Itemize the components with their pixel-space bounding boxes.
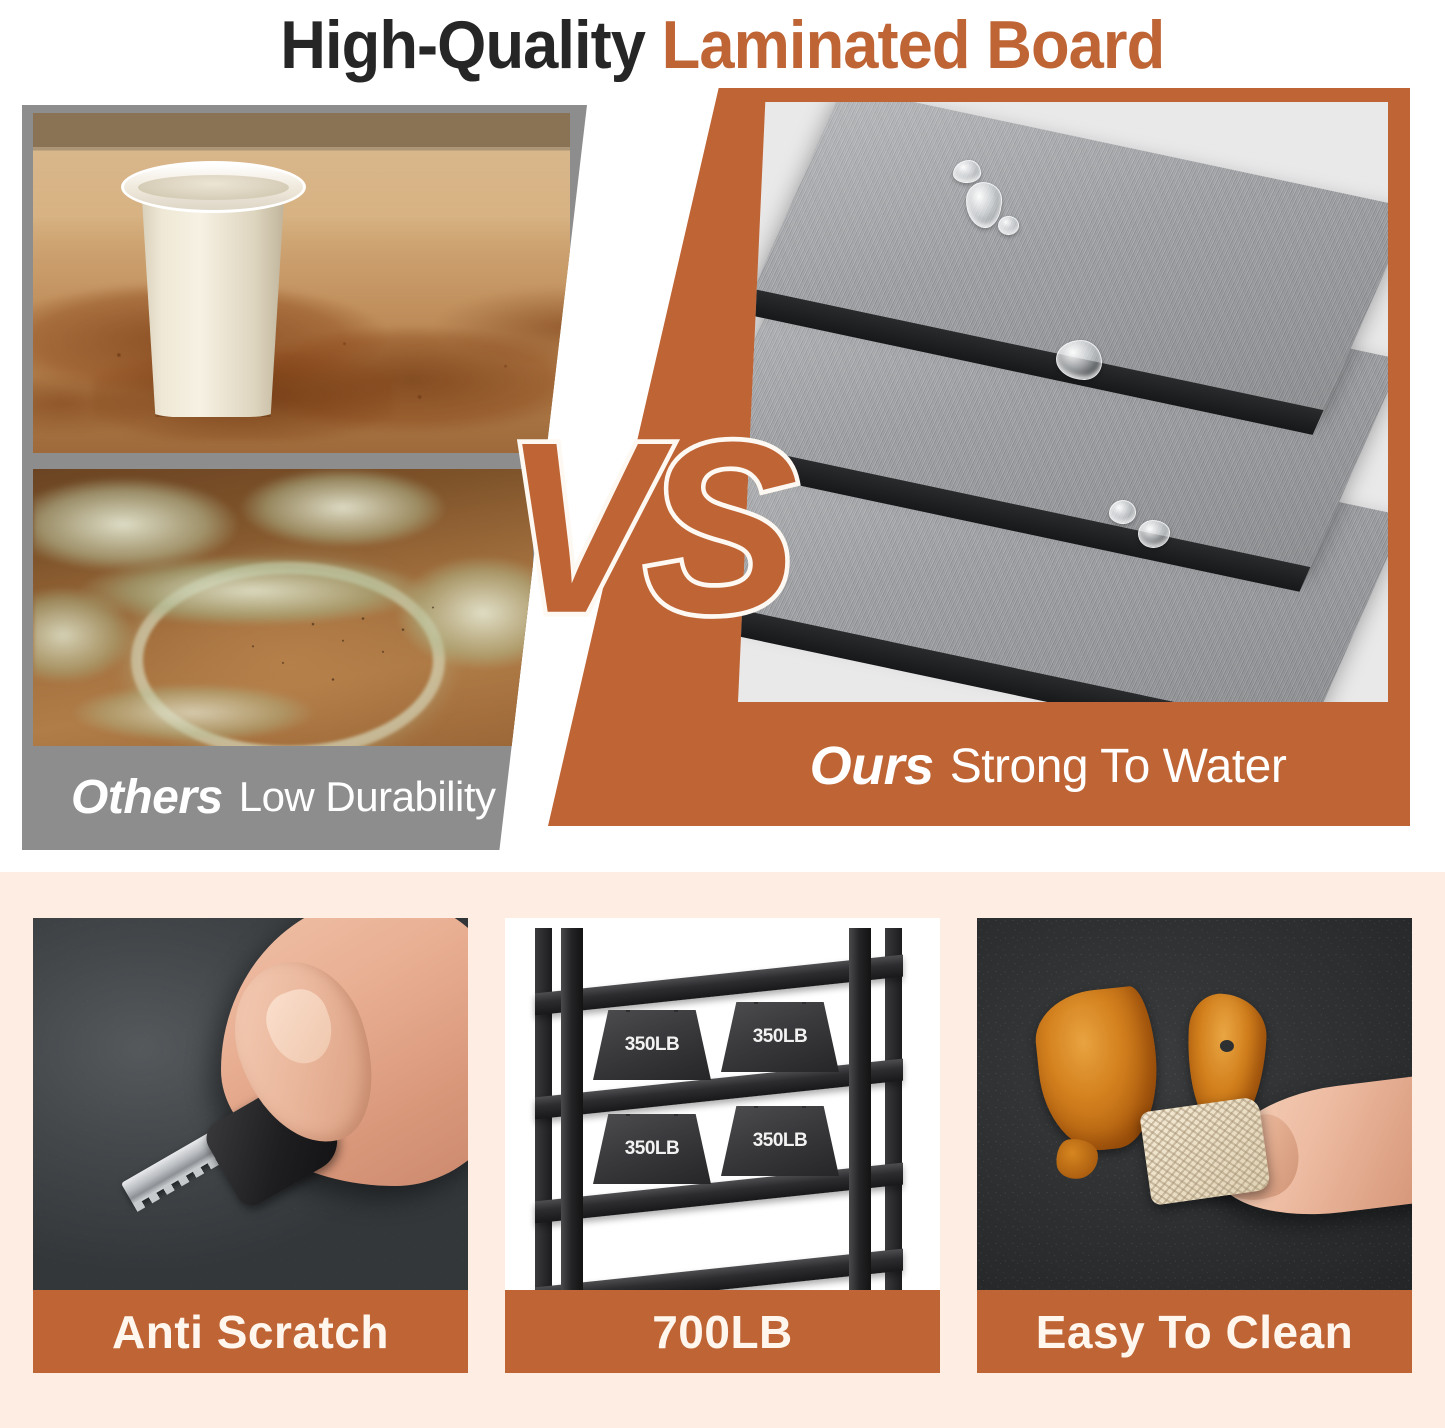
weight-block: 350LB <box>593 1010 711 1080</box>
shelf-deck <box>535 1059 903 1120</box>
others-caption: Others Low Durability <box>33 753 513 841</box>
shelf-deck <box>535 955 903 1016</box>
others-photo-coffee-spill <box>33 113 570 453</box>
weight-block: 350LB <box>721 1106 839 1176</box>
weight-block: 350LB <box>721 1002 839 1072</box>
shelf-post-front-left <box>561 928 583 1290</box>
page-title: High-Quality Laminated Board <box>280 6 1164 84</box>
page-title-part-orange: Laminated Board <box>662 7 1165 83</box>
water-droplet <box>953 160 981 183</box>
others-photo-mold <box>33 469 533 746</box>
ours-photo-waterproof-boards <box>738 102 1388 702</box>
shelving-backdrop: 350LB 350LB 350LB 350LB <box>505 918 940 1290</box>
shelving-photo: 350LB 350LB 350LB 350LB <box>505 918 940 1290</box>
cup-rim <box>121 161 306 213</box>
page-title-part-dark: High-Quality <box>280 7 645 83</box>
page-header: High-Quality Laminated Board <box>0 0 1445 90</box>
shelf-deck <box>535 1163 903 1224</box>
paper-cup <box>121 155 306 427</box>
features-section: Anti Scratch 350LB <box>0 872 1445 1428</box>
spill-hole <box>1220 1040 1235 1053</box>
others-claim-text: Low Durability <box>239 773 496 821</box>
feature-card-easy-to-clean: Easy To Clean <box>977 918 1412 1373</box>
cup-body <box>133 183 293 417</box>
mold-specks <box>33 469 533 746</box>
weight-label: 350LB <box>625 1034 680 1056</box>
cleaning-cloth <box>1139 1096 1271 1206</box>
feature-card-anti-scratch: Anti Scratch <box>33 918 468 1373</box>
feature-label-anti-scratch: Anti Scratch <box>33 1290 468 1373</box>
water-droplet <box>998 216 1019 235</box>
others-brand-word: Others <box>71 770 223 825</box>
weight-block: 350LB <box>593 1114 711 1184</box>
vs-badge: VS <box>503 406 786 650</box>
anti-scratch-photo <box>33 918 468 1290</box>
shelf-post-back-right <box>885 928 902 1290</box>
shelving-unit: 350LB 350LB 350LB 350LB <box>533 928 913 1290</box>
feature-label-load-capacity: 700LB <box>505 1290 940 1373</box>
shelf-deck <box>535 1249 903 1290</box>
shelf-post-front-right <box>849 928 871 1290</box>
ours-brand-word: Ours <box>810 735 934 797</box>
weight-label: 350LB <box>753 1026 808 1048</box>
feature-card-load-capacity: 350LB 350LB 350LB 350LB <box>505 918 940 1373</box>
feature-label-easy-to-clean: Easy To Clean <box>977 1290 1412 1373</box>
comparison-section: Others Low Durability <box>0 88 1445 872</box>
easy-to-clean-photo <box>977 918 1412 1290</box>
water-droplet <box>1109 500 1136 524</box>
ours-caption: Ours Strong To Water <box>698 720 1398 812</box>
weight-label: 350LB <box>625 1138 680 1160</box>
weight-label: 350LB <box>753 1130 808 1152</box>
ours-claim-text: Strong To Water <box>950 739 1287 794</box>
